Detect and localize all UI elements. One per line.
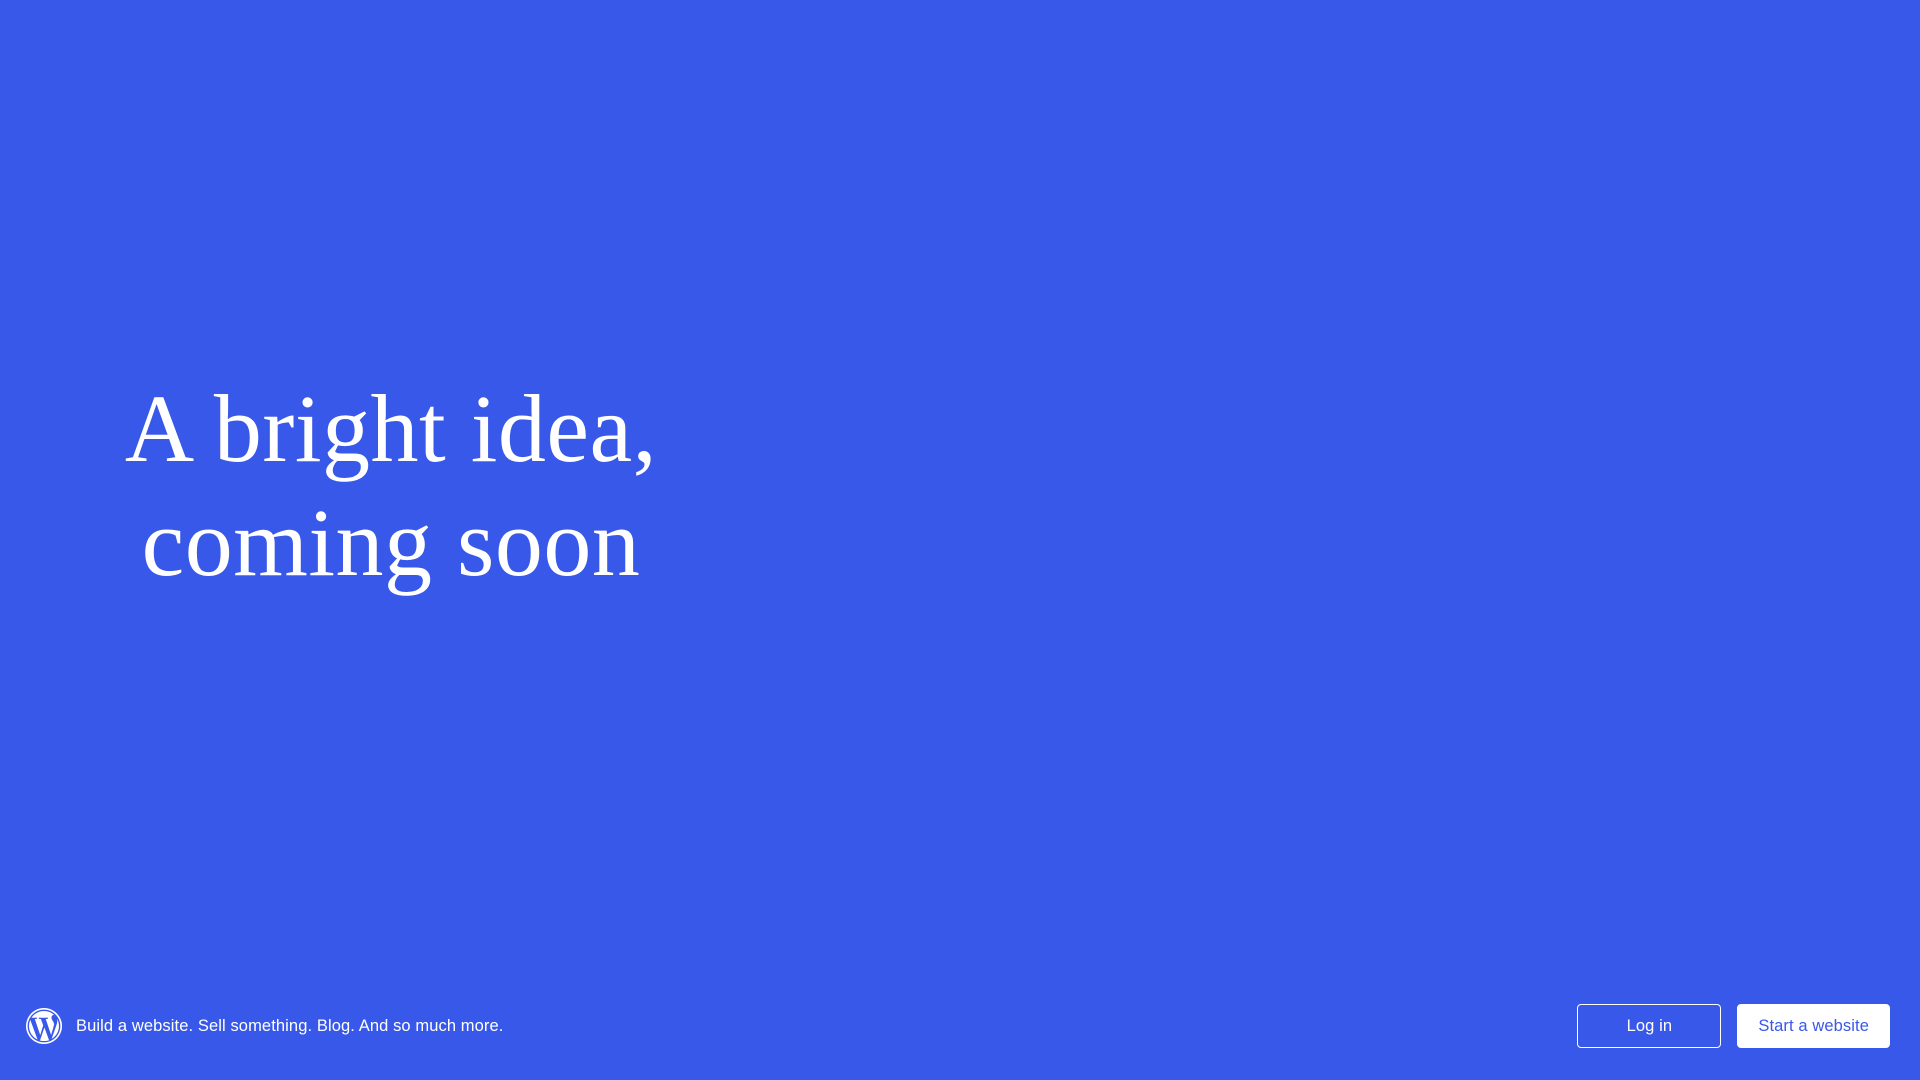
footer-branding: Build a website. Sell something. Blog. A… (26, 1008, 504, 1044)
log-in-button[interactable]: Log in (1577, 1004, 1721, 1048)
page-headline: A bright idea, coming soon (96, 372, 686, 600)
footer-tagline: Build a website. Sell something. Blog. A… (76, 1016, 504, 1036)
hero-section: A bright idea, coming soon (0, 0, 1920, 972)
coming-soon-page: A bright idea, coming soon Build a websi… (0, 0, 1920, 1080)
footer-actions: Log in Start a website (1577, 1004, 1890, 1048)
wordpress-logo-icon (26, 1008, 62, 1044)
footer-bar: Build a website. Sell something. Blog. A… (0, 972, 1920, 1080)
start-a-website-button[interactable]: Start a website (1737, 1004, 1890, 1048)
